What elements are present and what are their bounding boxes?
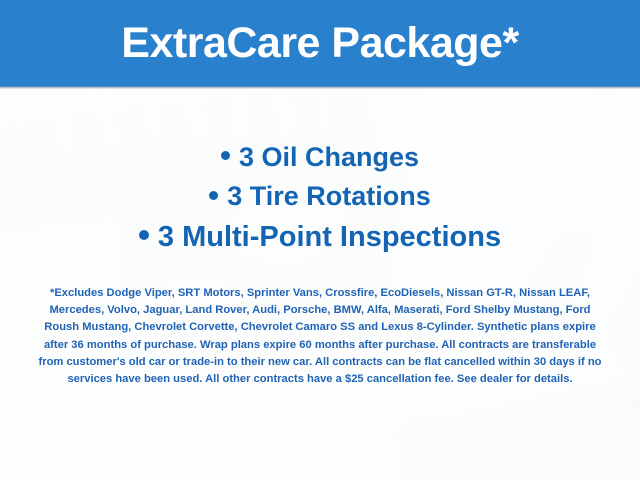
benefit-item-tire-rotations: 3 Tire Rotations <box>0 180 640 212</box>
benefit-label: 3 Multi-Point Inspections <box>158 221 501 253</box>
bullet-dot-icon <box>139 230 149 240</box>
main-content: 3 Oil Changes 3 Tire Rotations 3 Multi-P… <box>0 89 640 480</box>
benefits-list: 3 Oil Changes 3 Tire Rotations 3 Multi-P… <box>0 141 640 255</box>
extracare-promo-card: ExtraCare Package* 3 Oil Changes 3 Tire … <box>0 0 640 480</box>
bullet-dot-icon <box>221 151 230 160</box>
banner-divider <box>0 86 640 89</box>
benefit-label: 3 Oil Changes <box>239 142 419 172</box>
benefit-item-oil-changes: 3 Oil Changes <box>0 141 640 173</box>
benefit-item-multi-point-inspections: 3 Multi-Point Inspections <box>0 220 640 255</box>
benefit-label: 3 Tire Rotations <box>227 181 431 211</box>
page-title: ExtraCare Package* <box>121 22 518 65</box>
header-banner: ExtraCare Package* <box>0 0 640 86</box>
bullet-dot-icon <box>209 191 218 200</box>
disclaimer-text: *Excludes Dodge Viper, SRT Motors, Sprin… <box>32 285 608 388</box>
